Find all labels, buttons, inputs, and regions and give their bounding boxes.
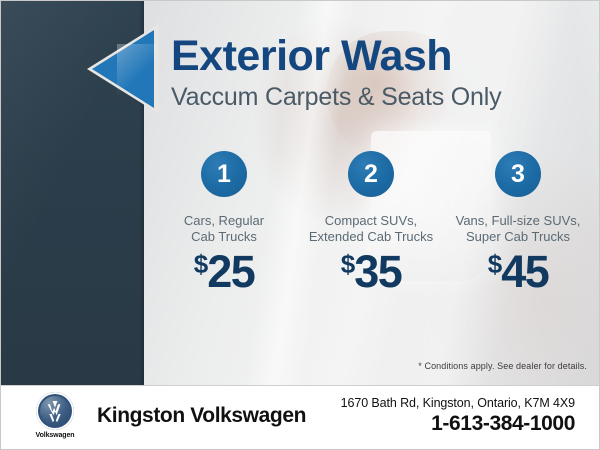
promo-main-area: Exterior Wash Vaccum Carpets & Seats Onl… (1, 1, 600, 385)
dealer-address: 1670 Bath Rd, Kingston, Ontario, K7M 4X9 (341, 396, 575, 410)
volkswagen-logo: Volkswagen (27, 392, 83, 439)
price-tier: 2 Compact SUVs,Extended Cab Trucks $35 (298, 151, 444, 294)
dealer-phone[interactable]: 1-613-384-1000 (341, 412, 575, 436)
currency-symbol: $ (341, 249, 354, 279)
promotional-ad: Exterior Wash Vaccum Carpets & Seats Onl… (0, 0, 600, 450)
headline-block: Exterior Wash Vaccum Carpets & Seats Onl… (171, 33, 591, 111)
price-tier-list: 1 Cars, RegularCab Trucks $25 2 Compact … (151, 151, 591, 294)
vw-roundel-icon (36, 392, 74, 430)
price-tier: 3 Vans, Full-size SUVs,Super Cab Trucks … (445, 151, 591, 294)
page-subtitle: Vaccum Carpets & Seats Only (171, 83, 591, 111)
tier-price: $35 (298, 249, 444, 294)
page-title: Exterior Wash (171, 33, 591, 79)
currency-symbol: $ (194, 249, 207, 279)
triangle-accent-icon (87, 24, 159, 114)
tier-number-badge: 3 (495, 151, 541, 197)
disclaimer-text: * Conditions apply. See dealer for detai… (418, 361, 587, 371)
dealer-name: Kingston Volkswagen (97, 404, 306, 428)
tier-price: $45 (445, 249, 591, 294)
vw-monogram-icon (36, 392, 74, 430)
footer-contact-block: 1670 Bath Rd, Kingston, Ontario, K7M 4X9… (341, 396, 575, 436)
tier-description: Vans, Full-size SUVs,Super Cab Trucks (445, 213, 591, 245)
tier-price: $25 (151, 249, 297, 294)
price-amount: 35 (354, 246, 401, 297)
tier-number-badge: 2 (348, 151, 394, 197)
volkswagen-wordmark: Volkswagen (27, 432, 83, 439)
dealer-footer: Volkswagen Kingston Volkswagen 1670 Bath… (1, 385, 600, 450)
price-amount: 45 (501, 246, 548, 297)
tier-description: Cars, RegularCab Trucks (151, 213, 297, 245)
tier-number-badge: 1 (201, 151, 247, 197)
triangle-shade (117, 44, 157, 96)
price-tier: 1 Cars, RegularCab Trucks $25 (151, 151, 297, 294)
footer-brand-block: Volkswagen Kingston Volkswagen (27, 392, 306, 439)
currency-symbol: $ (488, 249, 501, 279)
price-amount: 25 (207, 246, 254, 297)
tier-description: Compact SUVs,Extended Cab Trucks (298, 213, 444, 245)
